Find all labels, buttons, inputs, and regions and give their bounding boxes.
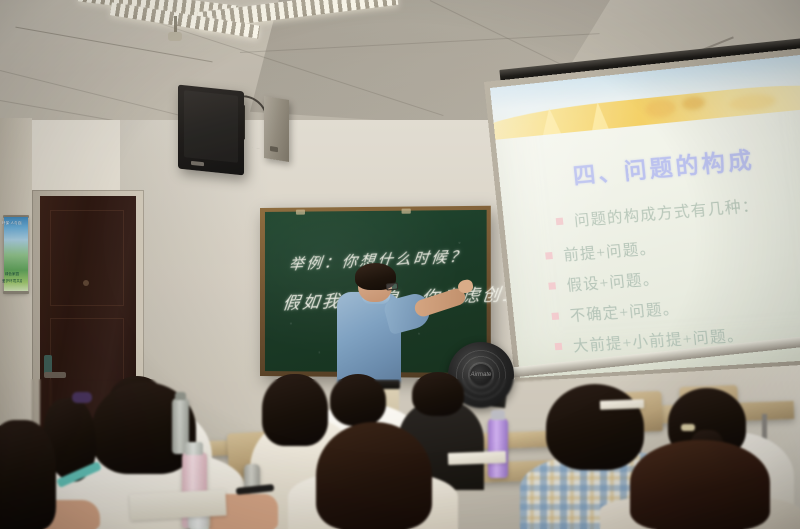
- light-canopy: [168, 32, 182, 41]
- slide-bullet-text-1: 前提+问题。: [562, 237, 657, 266]
- student-back-left-hair: [412, 372, 464, 416]
- poster-text-bottom: 爱护环境共建未来: [2, 279, 22, 283]
- student-plaid-hair: [546, 384, 644, 470]
- slide-bullet-list: 问题的构成方式有几种： 前提+问题。 假设+问题。 不确定+问题。 大前提+小前…: [541, 188, 800, 366]
- slide-bullet-0: 问题的构成方式有几种：: [555, 188, 800, 232]
- student-center-dark-hair: [262, 374, 328, 446]
- slide-surface: 四、问题的构成 问题的构成方式有几种： 前提+问题。 假设+问题。 不确定+问题…: [490, 53, 800, 378]
- hair-clip: [681, 424, 695, 431]
- board-clip-left: [296, 210, 305, 215]
- student-mid-front-hair: [316, 422, 432, 529]
- fan-logo: Airmate: [471, 372, 492, 378]
- slide-bullet-text-2: 假设+问题。: [566, 267, 661, 295]
- glasses-icon: [386, 282, 399, 290]
- slide-bullet-text-3: 不确定+问题。: [569, 297, 681, 326]
- hair-tie: [72, 392, 92, 403]
- bullet-square-icon: [555, 343, 563, 351]
- wall-speaker: [178, 85, 244, 176]
- bottle-purple-cap[interactable]: [491, 410, 505, 420]
- slide-bullet-text-0: 问题的构成方式有几种：: [573, 194, 760, 231]
- poster-rail-bottom: [3, 291, 29, 294]
- door-panel-upper: [50, 210, 124, 306]
- door-peephole: [83, 280, 89, 286]
- bottle-purple[interactable]: [488, 418, 508, 478]
- bottle-gray-cap[interactable]: [175, 392, 186, 400]
- student-far-left-hair: [0, 420, 56, 529]
- open-notebook[interactable]: [129, 490, 226, 521]
- poster-text-mid: 绿色家园: [2, 272, 22, 276]
- bullet-square-icon: [556, 218, 564, 226]
- bullet-square-icon: [551, 312, 559, 320]
- paper-sheet-right[interactable]: [600, 399, 644, 410]
- student-mid-white-hair: [330, 374, 386, 426]
- poster-text-top: 环保·人与自然: [2, 221, 22, 225]
- paper-sheet[interactable]: [448, 451, 506, 465]
- bullet-square-icon: [545, 252, 553, 260]
- bullet-square-icon: [548, 282, 556, 290]
- slide-title: 四、问题的构成: [498, 134, 800, 197]
- classroom-photo: 环保·人与自然 绿色家园 爱护环境共建未来 举例：你想什么时候？ 假如我不利息，…: [0, 0, 800, 529]
- student-far-right-hair: [630, 440, 770, 529]
- projection-screen: 四、问题的构成 问题的构成方式有几种： 前提+问题。 假设+问题。 不确定+问题…: [478, 52, 800, 382]
- board-clip-right: [402, 209, 411, 214]
- thermos-pink-cap[interactable]: [185, 442, 203, 455]
- electrical-junction-box[interactable]: [264, 96, 289, 162]
- door-handle[interactable]: [44, 372, 66, 378]
